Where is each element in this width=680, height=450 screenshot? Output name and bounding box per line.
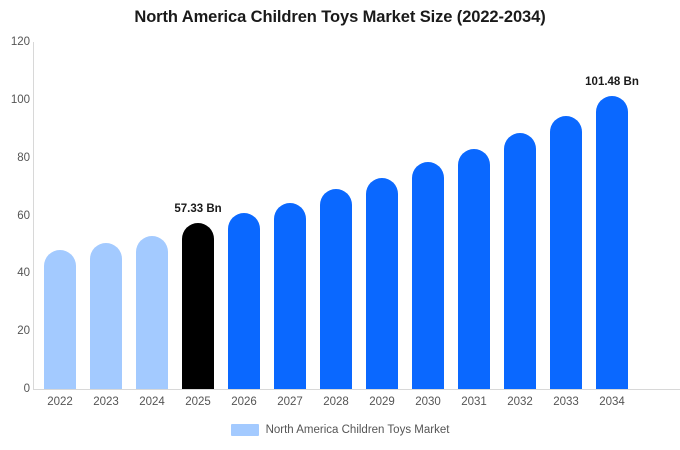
bar-2027[interactable] (274, 203, 306, 390)
y-tick-label: 40 (0, 267, 30, 279)
y-axis: 020406080100120 (0, 42, 30, 389)
chart-legend: North America Children Toys Market (0, 424, 680, 436)
x-tick-label-2023: 2023 (83, 396, 129, 408)
x-tick-label-2028: 2028 (313, 396, 359, 408)
x-tick-label-2027: 2027 (267, 396, 313, 408)
x-tick-label-2025: 2025 (175, 396, 221, 408)
x-axis: 2022202320242025202620272028202920302031… (33, 396, 680, 414)
bar-2029[interactable] (366, 178, 398, 389)
x-tick-label-2034: 2034 (589, 396, 635, 408)
bar-2034[interactable] (596, 96, 628, 389)
bar-2022[interactable] (44, 250, 76, 389)
y-tick-label: 0 (0, 383, 30, 395)
bar-2024[interactable] (136, 236, 168, 389)
x-tick-label-2022: 2022 (37, 396, 83, 408)
legend-swatch-icon (231, 424, 259, 436)
chart-container: North America Children Toys Market Size … (0, 0, 680, 450)
x-tick-label-2031: 2031 (451, 396, 497, 408)
x-tick-label-2024: 2024 (129, 396, 175, 408)
y-tick-label: 120 (0, 36, 30, 48)
bar-value-label-2025: 57.33 Bn (174, 203, 221, 215)
bars-layer: 57.33 Bn101.48 Bn (33, 42, 680, 389)
x-tick-label-2033: 2033 (543, 396, 589, 408)
y-tick-label: 100 (0, 94, 30, 106)
bar-2025[interactable] (182, 223, 214, 389)
y-tick-label: 20 (0, 325, 30, 337)
x-tick-label-2030: 2030 (405, 396, 451, 408)
bar-value-label-2034: 101.48 Bn (585, 76, 639, 88)
x-tick-label-2032: 2032 (497, 396, 543, 408)
legend-label: North America Children Toys Market (266, 424, 450, 436)
bar-2030[interactable] (412, 162, 444, 389)
x-axis-line (33, 389, 680, 390)
x-tick-label-2029: 2029 (359, 396, 405, 408)
y-tick-label: 60 (0, 210, 30, 222)
bar-2033[interactable] (550, 116, 582, 389)
bar-2031[interactable] (458, 149, 490, 389)
bar-2032[interactable] (504, 133, 536, 389)
bar-2023[interactable] (90, 243, 122, 389)
x-tick-label-2026: 2026 (221, 396, 267, 408)
bar-2028[interactable] (320, 189, 352, 389)
chart-title: North America Children Toys Market Size … (0, 8, 680, 27)
y-tick-label: 80 (0, 152, 30, 164)
bar-2026[interactable] (228, 213, 260, 389)
